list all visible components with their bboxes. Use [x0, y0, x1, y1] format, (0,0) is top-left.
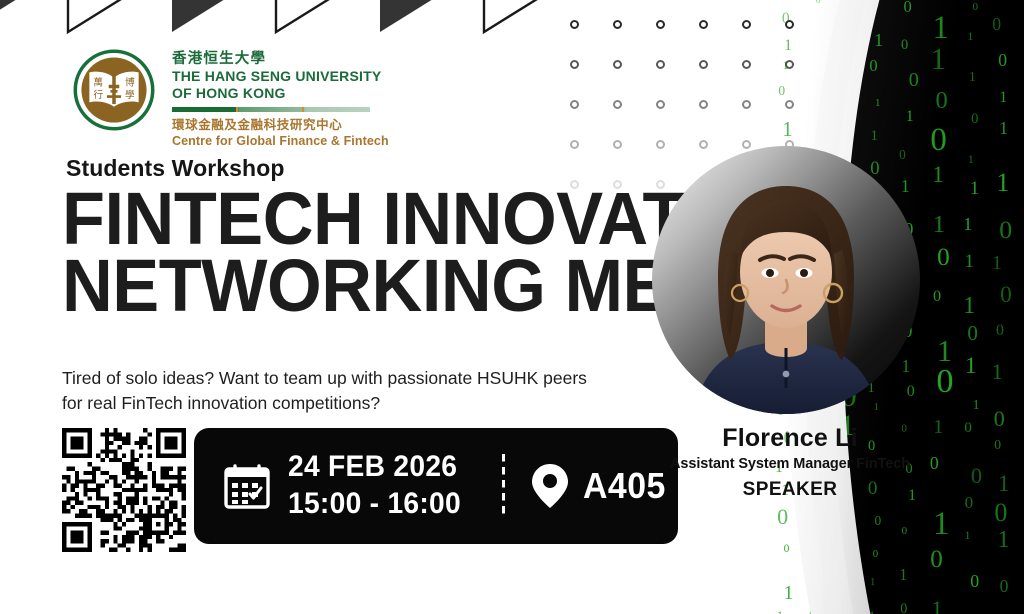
grid-dot — [613, 140, 622, 149]
binary-digit: 1 — [964, 252, 974, 272]
speaker-name: Florence Li — [640, 424, 940, 453]
binary-digit: 1 — [933, 507, 950, 542]
calendar-check-icon — [222, 461, 272, 511]
binary-digit: 1 — [963, 294, 975, 319]
binary-digit: 0 — [936, 363, 953, 399]
event-time: 15:00 - 16:00 — [288, 486, 461, 523]
triangle-decoration-row — [0, 0, 640, 34]
logo-university-en-2: OF HONG KONG — [172, 85, 389, 102]
binary-digit: 0 — [777, 505, 788, 528]
binary-digit: 1 — [871, 129, 879, 145]
logo-university-en-1: THE HANG SENG UNIVERSITY — [172, 68, 389, 85]
binary-digit: 0 — [869, 57, 877, 74]
grid-dot — [613, 100, 622, 109]
binary-digit: 0 — [874, 514, 881, 528]
info-divider — [502, 454, 505, 518]
binary-digit: 0 — [873, 549, 878, 560]
binary-digit: 0 — [994, 438, 1001, 452]
binary-digit: 1 — [870, 577, 875, 588]
binary-digit: 0 — [930, 547, 943, 573]
svg-text:萬: 萬 — [93, 76, 103, 89]
grid-dot — [570, 60, 579, 69]
binary-digit: 0 — [901, 38, 908, 53]
binary-digit: 0 — [1000, 577, 1009, 595]
grid-dot — [613, 20, 622, 29]
binary-digit: 0 — [784, 543, 790, 555]
grid-dot — [656, 60, 665, 69]
logo-divider-rule — [172, 107, 370, 112]
grid-dot — [785, 60, 794, 69]
binary-digit: 0 — [965, 494, 974, 512]
binary-digit: 1 — [973, 398, 980, 412]
binary-digit: 0 — [999, 216, 1012, 243]
binary-digit: 1 — [933, 212, 945, 238]
binary-digit: 1 — [999, 90, 1007, 107]
hsuhk-logo-block: 萬 行 博 學 香港恒生大學 THE HANG SENG UNIVERSITY … — [70, 46, 389, 150]
binary-digit: 0 — [937, 245, 950, 271]
grid-dot — [742, 20, 751, 29]
grid-dot — [570, 140, 579, 149]
registration-qr-code[interactable] — [62, 428, 186, 552]
grid-dot — [656, 100, 665, 109]
binary-digit: 0 — [994, 407, 1005, 430]
grid-dot — [742, 100, 751, 109]
event-date-group: 24 FEB 2026 15:00 - 16:00 — [194, 449, 472, 522]
binary-digit: 0 — [933, 287, 941, 304]
binary-digit: 0 — [996, 323, 1004, 340]
grid-dot — [699, 100, 708, 109]
logo-centre-en: Centre for Global Finance & Fintech — [172, 133, 389, 149]
binary-digit: 1 — [783, 583, 793, 604]
binary-digit: 1 — [968, 155, 974, 167]
grid-dot — [785, 20, 794, 29]
speaker-tag: SPEAKER — [640, 479, 940, 501]
binary-digit: 1 — [997, 528, 1009, 553]
svg-text:行: 行 — [93, 88, 103, 101]
binary-digit: 1 — [996, 169, 1009, 196]
map-pin-icon — [531, 463, 569, 509]
binary-digit: 1 — [998, 472, 1010, 496]
subcopy-line-2: for real FinTech innovation competitions… — [62, 391, 622, 416]
binary-digit: 1 — [906, 109, 914, 125]
binary-digit: 0 — [998, 51, 1007, 70]
grid-dot — [613, 60, 622, 69]
binary-digit: 1 — [999, 119, 1008, 138]
grid-dot — [742, 60, 751, 69]
grid-dot — [785, 100, 794, 109]
binary-digit: 0 — [992, 15, 1001, 33]
binary-digit: 0 — [970, 572, 979, 591]
speaker-portrait-illustration — [652, 146, 920, 414]
binary-digit: 0 — [816, 0, 821, 6]
binary-digit: 0 — [971, 464, 982, 488]
grid-dot — [699, 20, 708, 29]
subcopy-text: Tired of solo ideas? Want to team up wit… — [62, 366, 622, 417]
binary-digit: 1 — [874, 31, 883, 50]
binary-digit: 1 — [969, 71, 976, 86]
binary-digit: 1 — [875, 99, 880, 110]
binary-digit: 1 — [932, 163, 943, 187]
speaker-info: Florence Li Assistant System Manager Fin… — [640, 424, 940, 501]
binary-digit: 1 — [963, 215, 972, 234]
binary-digit: 1 — [968, 32, 974, 44]
title-line-2: NETWORKING MEETUP — [62, 253, 632, 320]
binary-digit: 0 — [994, 499, 1007, 526]
event-date-text: 24 FEB 2026 15:00 - 16:00 — [288, 449, 461, 522]
speaker-role: Assistant System Manager FinTech — [640, 456, 940, 472]
binary-digit: 1 — [992, 253, 1002, 274]
binary-digit: 0 — [964, 421, 971, 437]
binary-digit: 0 — [900, 602, 907, 614]
binary-digit: 0 — [1000, 283, 1012, 308]
binary-digit: 1 — [970, 179, 979, 199]
binary-digit: 1 — [931, 597, 942, 614]
binary-digit: 1 — [780, 0, 788, 1]
grid-dot — [656, 20, 665, 29]
speaker-avatar — [652, 146, 920, 414]
grid-dot — [699, 60, 708, 69]
binary-digit: 0 — [902, 526, 908, 538]
binary-digit: 1 — [899, 566, 907, 583]
binary-digit: 0 — [972, 2, 978, 14]
binary-digit: 1 — [992, 360, 1003, 383]
poster-canvas: 1011011000100100110011010111001001110000… — [0, 0, 1024, 614]
binary-digit: 0 — [903, 0, 911, 15]
binary-digit: 1 — [777, 609, 783, 614]
logo-university-cn: 香港恒生大學 — [172, 50, 389, 68]
grid-dot — [570, 100, 579, 109]
binary-digit: 1 — [933, 11, 949, 45]
binary-digit: 0 — [967, 322, 978, 344]
binary-digit: 1 — [965, 354, 977, 379]
binary-digit: 0 — [909, 70, 919, 91]
logo-centre-cn: 環球金融及金融科技研究中心 — [172, 117, 389, 133]
event-info-bar: 24 FEB 2026 15:00 - 16:00 A405 — [194, 428, 678, 544]
binary-digit: 0 — [971, 112, 978, 127]
page-title: FINTECH INNOVATORS NETWORKING MEETUP — [62, 186, 632, 319]
hsuhk-crest-icon: 萬 行 博 學 — [70, 46, 158, 134]
subcopy-line-1: Tired of solo ideas? Want to team up wit… — [62, 366, 622, 391]
binary-digit: 0 — [936, 88, 948, 114]
binary-digit: 1 — [931, 43, 947, 76]
grid-dot — [570, 20, 579, 29]
svg-text:博: 博 — [125, 76, 135, 89]
binary-digit: 1 — [965, 531, 971, 543]
event-date: 24 FEB 2026 — [288, 449, 461, 486]
binary-digit: 0 — [930, 123, 946, 158]
svg-text:學: 學 — [125, 88, 135, 101]
title-line-1: FINTECH INNOVATORS — [62, 186, 632, 253]
